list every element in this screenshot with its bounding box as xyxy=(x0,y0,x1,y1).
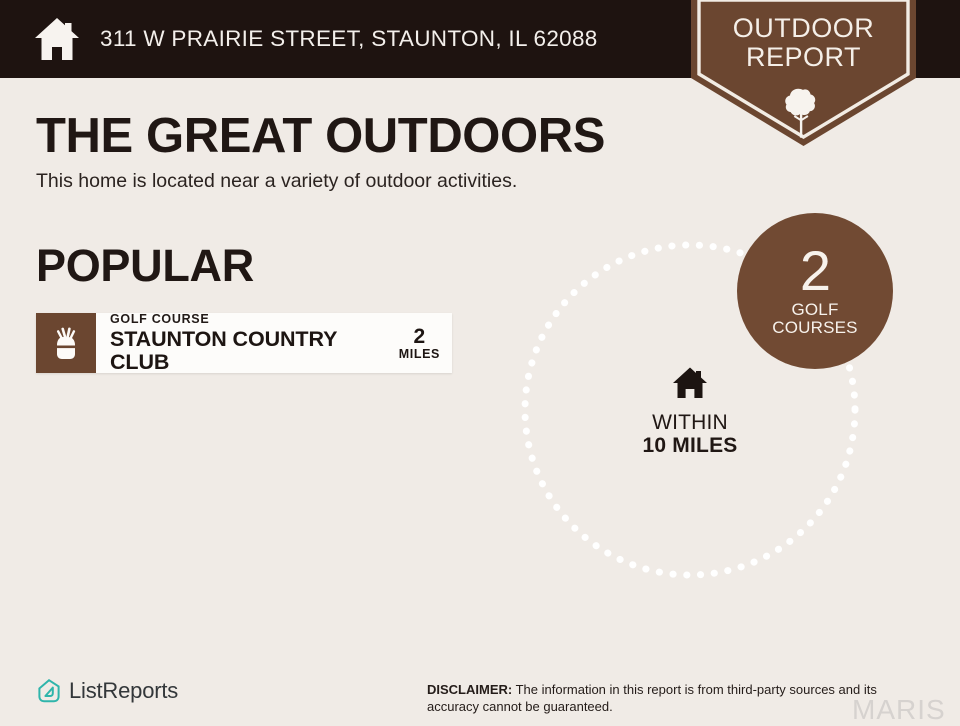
brand-name: ListReports xyxy=(69,678,178,704)
center-label-line2: 10 MILES xyxy=(592,434,788,457)
page-subtitle: This home is located near a variety of o… xyxy=(36,170,517,193)
poi-name: STAUNTON COUNTRY CLUB xyxy=(110,328,391,373)
count-bubble-golf-courses: 2 GOLF COURSES xyxy=(737,213,893,369)
badge-shape xyxy=(691,0,916,146)
poi-text: GOLF COURSE STAUNTON COUNTRY CLUB xyxy=(110,313,391,373)
count-label-line1: GOLF xyxy=(791,300,838,319)
disclaimer-label: DISCLAIMER: xyxy=(427,682,512,697)
home-icon xyxy=(671,366,709,400)
poi-body: GOLF COURSE STAUNTON COUNTRY CLUB 2 MILE… xyxy=(96,313,452,373)
center-label-line1: WITHIN xyxy=(592,411,788,434)
brand-logo[interactable]: ListReports xyxy=(36,678,178,704)
golf-bag-icon xyxy=(51,325,81,361)
listreports-logo-icon xyxy=(36,678,62,704)
count-label-line2: COURSES xyxy=(772,318,857,337)
section-heading-popular: POPULAR xyxy=(36,240,254,292)
poi-distance-unit: MILES xyxy=(399,348,440,361)
poi-distance: 2 MILES xyxy=(391,326,440,361)
watermark: MARIS xyxy=(852,694,946,726)
home-icon xyxy=(32,16,82,62)
poi-category: GOLF COURSE xyxy=(110,313,391,326)
outdoor-report-badge: OUTDOOR REPORT xyxy=(691,0,916,146)
page-title: THE GREAT OUTDOORS xyxy=(36,108,605,164)
center-marker: WITHIN 10 MILES xyxy=(592,366,788,457)
property-address: 311 W PRAIRIE STREET, STAUNTON, IL 62088 xyxy=(100,26,598,52)
poi-icon-tile xyxy=(36,313,96,373)
count-label: GOLF COURSES xyxy=(772,301,857,337)
poi-distance-value: 2 xyxy=(399,326,440,347)
count-number: 2 xyxy=(800,245,830,297)
list-item[interactable]: GOLF COURSE STAUNTON COUNTRY CLUB 2 MILE… xyxy=(36,313,452,373)
